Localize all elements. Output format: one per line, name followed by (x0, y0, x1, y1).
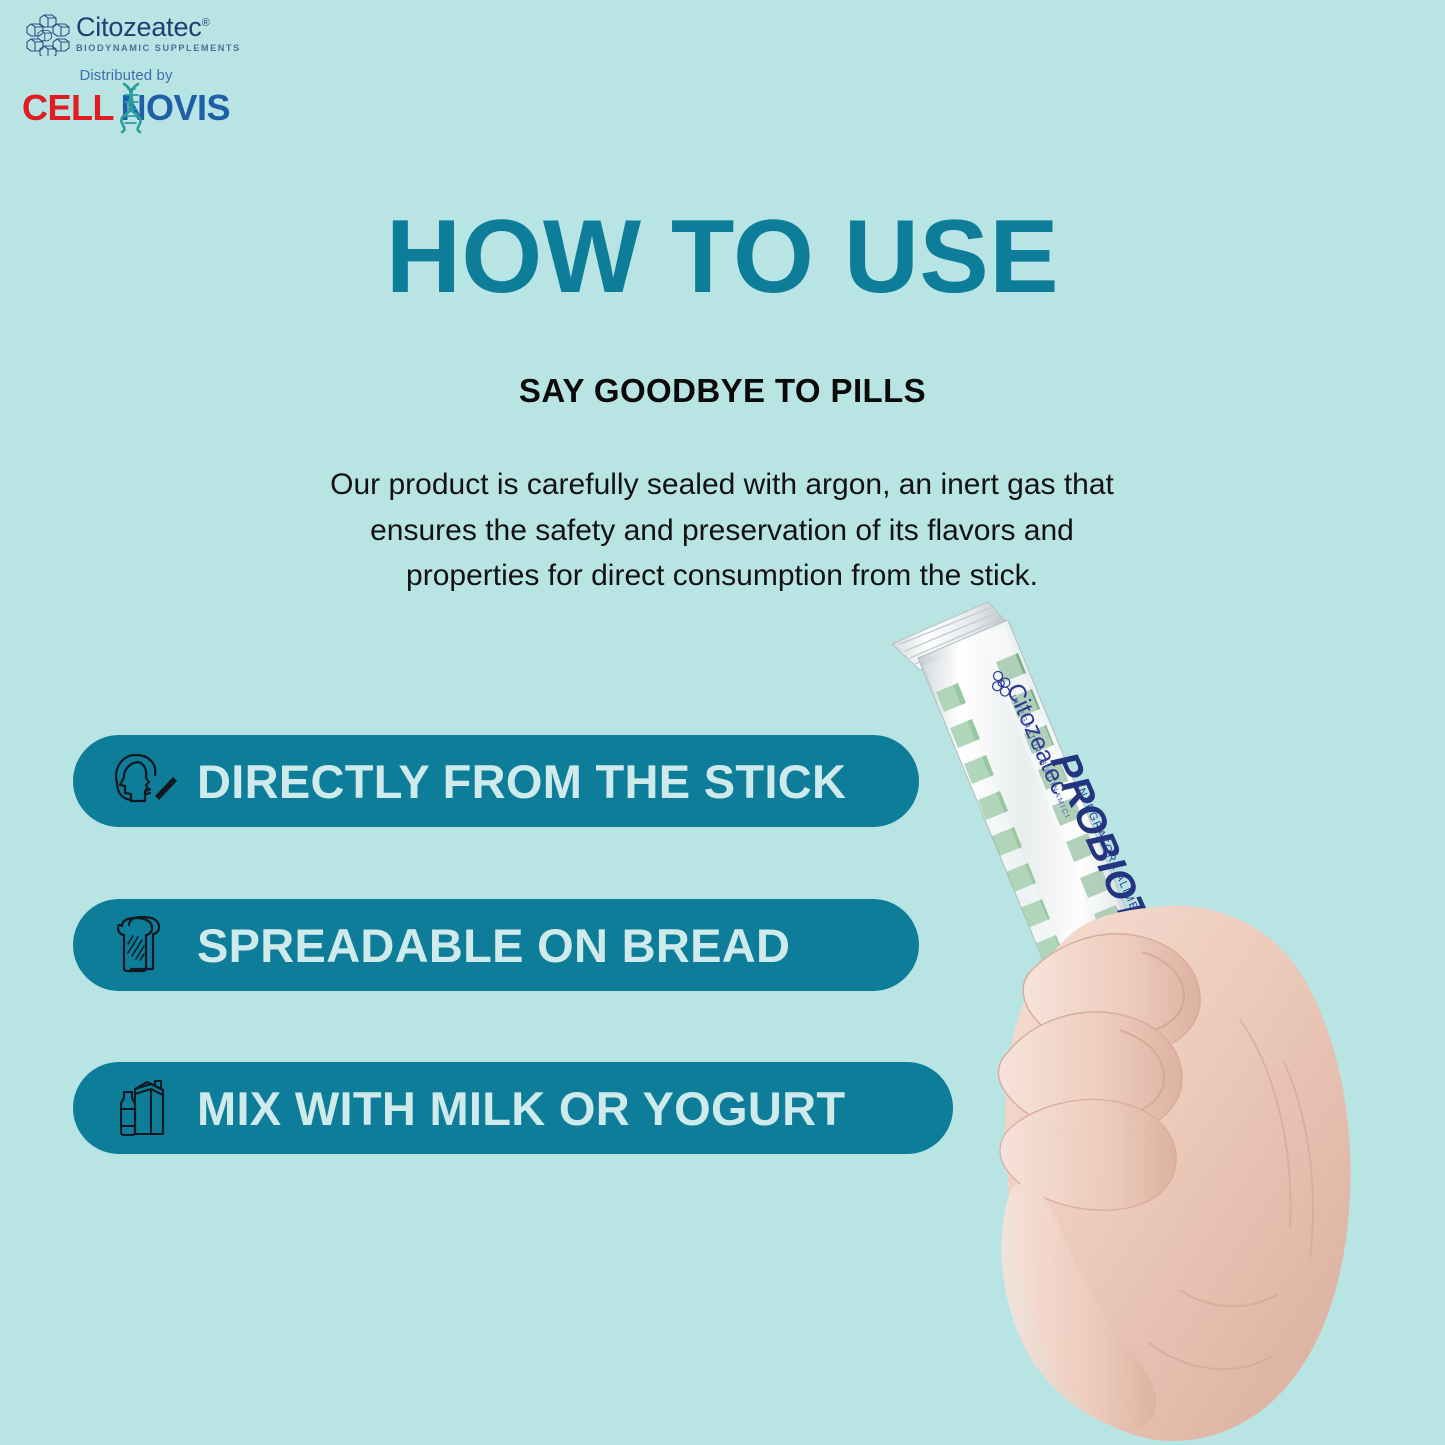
citozeatec-wordmark: Citozeatec® BIODYNAMIC SUPPLEMENTS (76, 14, 241, 53)
usage-option-label: SPREADABLE ON BREAD (197, 918, 790, 973)
intro-paragraph: Our product is carefully sealed with arg… (322, 462, 1122, 599)
poster-canvas: Citozeatec® BIODYNAMIC SUPPLEMENTS Distr… (0, 0, 1445, 1445)
usage-option-label: DIRECTLY FROM THE STICK (197, 754, 846, 809)
molecule-lattice-icon (26, 12, 70, 56)
citozeatec-tagline: BIODYNAMIC SUPPLEMENTS (76, 44, 241, 53)
bread-slice-icon (105, 913, 179, 977)
citozeatec-logo: Citozeatec® BIODYNAMIC SUPPLEMENTS (22, 12, 342, 56)
page-subtitle: SAY GOODBYE TO PILLS (0, 372, 1445, 410)
registered-mark: ® (202, 17, 210, 29)
usage-option-spreadable-on-bread[interactable]: SPREADABLE ON BREAD (73, 899, 919, 991)
usage-option-mix-with-milk-or-yogurt[interactable]: MIX WITH MILK OR YOGURT (73, 1062, 953, 1154)
head-profile-eating-stick-icon (105, 749, 179, 813)
dna-helix-icon (108, 82, 156, 134)
cellnovis-logo: CELLNOVIS (22, 86, 230, 130)
page-title: HOW TO USE (0, 205, 1445, 309)
citozeatec-name: Citozeatec® (76, 14, 241, 41)
product-photo-hand-holding-stick: Citozeatec INTEGRATORI BIODINAMICI PROBI… (880, 600, 1445, 1445)
usage-option-label: MIX WITH MILK OR YOGURT (197, 1081, 845, 1136)
hand (999, 906, 1351, 1441)
product-illustration: Citozeatec INTEGRATORI BIODINAMICI PROBI… (880, 600, 1445, 1445)
brand-block: Citozeatec® BIODYNAMIC SUPPLEMENTS Distr… (22, 12, 342, 130)
cellnovis-cell-text: CELL (22, 87, 114, 129)
usage-option-directly-from-the-stick[interactable]: DIRECTLY FROM THE STICK (73, 735, 919, 827)
milk-carton-bottle-icon (105, 1076, 179, 1140)
